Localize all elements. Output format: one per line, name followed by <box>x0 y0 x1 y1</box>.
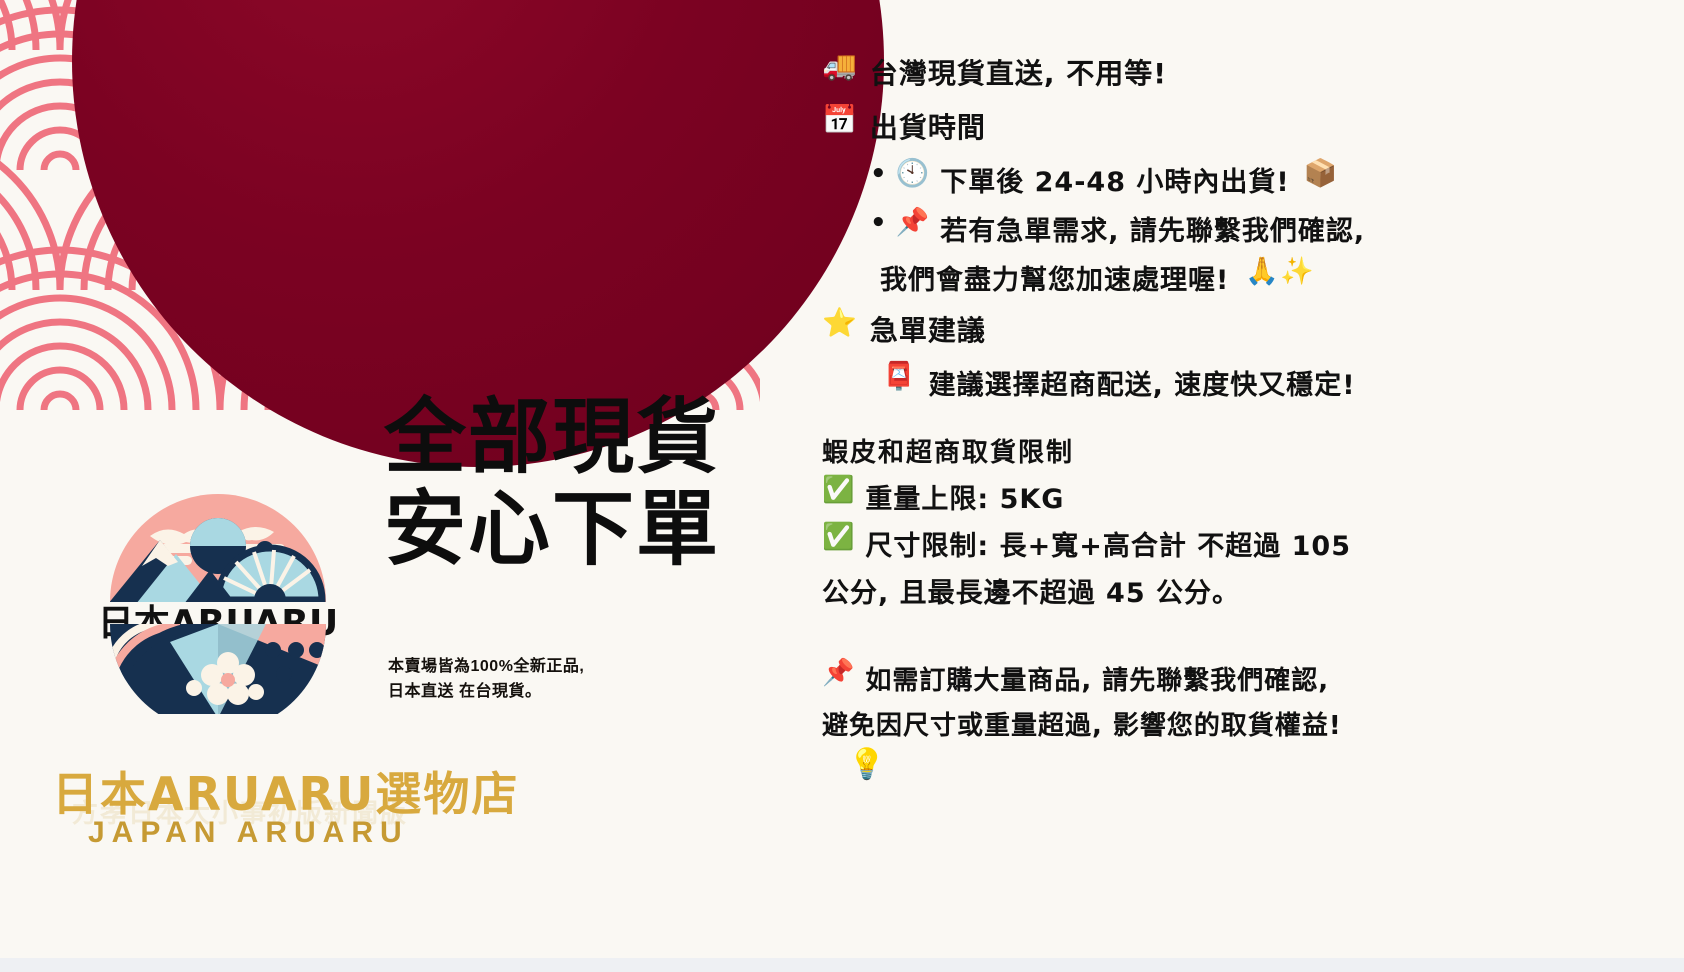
headline-line-1: 全部現貨 <box>384 392 784 484</box>
left-column: 日本ARUARU <box>0 0 830 958</box>
urgent-order-suggestion-text: 建議選擇超商配送, 速度快又穩定! <box>929 363 1356 402</box>
list-item: • 📌 若有急單需求, 請先聯繫我們確認, <box>822 209 1662 248</box>
shipping-headline-text: 台灣現貨直送, 不用等! <box>870 52 1167 92</box>
limit-size-continuation: 公分, 且最長邊不超過 45 公分。 <box>822 571 1662 610</box>
check-mark-button-icon: ✅ <box>822 524 855 550</box>
japan-aruaru-logo: 日本ARUARU <box>98 492 338 714</box>
pickup-limits-title: 蝦皮和超商取貨限制 <box>822 432 1662 469</box>
calendar-icon: 📅 <box>822 106 858 134</box>
urgent-order-suggestion: 📮 建議選擇超商配送, 速度快又穩定! <box>822 363 1662 402</box>
bulk-order-note-text-2: 避免因尺寸或重量超過, 影響您的取貨權益! <box>822 705 1342 742</box>
spacer <box>822 616 1662 660</box>
check-mark-button-icon: ✅ <box>822 477 855 503</box>
shipping-time-title: 📅 出貨時間 <box>822 106 1662 146</box>
disclaimer-line-2: 日本直送 在台現貨。 <box>388 680 584 705</box>
delivery-truck-icon: 🚚 <box>822 52 858 80</box>
limit-weight: ✅ 重量上限: 5KG <box>822 477 1662 516</box>
limit-weight-text: 重量上限: 5KG <box>865 477 1064 516</box>
bullet-text-rush-order: 若有急單需求, 請先聯繫我們確認, <box>940 209 1365 248</box>
bulk-order-note-line-1: 📌 如需訂購大量商品, 請先聯繫我們確認, <box>822 660 1662 697</box>
pickup-limits-title-text: 蝦皮和超商取貨限制 <box>822 432 1074 469</box>
authenticity-disclaimer: 本賣場皆為100%全新正品, 日本直送 在台現貨。 <box>388 655 584 705</box>
postbox-icon: 📮 <box>882 363 917 390</box>
list-item: • 🕙 下單後 24-48 小時內出貨! 📦 <box>822 160 1662 199</box>
pushpin-icon: 📌 <box>822 660 855 686</box>
limit-size-text: 尺寸限制: 長+寬+高合計 不超過 105 <box>865 524 1351 563</box>
urgent-order-title-text: 急單建議 <box>870 309 986 349</box>
limit-size-continuation-text: 公分, 且最長邊不超過 45 公分。 <box>822 571 1240 610</box>
pushpin-icon: 📌 <box>896 209 931 236</box>
page-title: 全部現貨 安心下單 <box>384 392 784 576</box>
headline-line-2: 安心下單 <box>384 484 784 576</box>
shipping-time-title-text: 出貨時間 <box>870 106 986 146</box>
right-column: 🚚 台灣現貨直送, 不用等! 📅 出貨時間 • 🕙 下單後 24-48 小時內出… <box>822 52 1662 780</box>
promo-banner: 日本ARUARU <box>0 0 1684 958</box>
package-box-icon: 📦 <box>1304 160 1339 187</box>
light-bulb-icon: 💡 <box>848 750 886 780</box>
limit-size: ✅ 尺寸限制: 長+寬+高合計 不超過 105 <box>822 524 1662 563</box>
bullet-dot-icon: • <box>870 160 888 190</box>
bulk-order-note-text-1: 如需訂購大量商品, 請先聯繫我們確認, <box>865 660 1329 697</box>
folded-hands-icon: 🙏 <box>1245 258 1280 285</box>
bulk-order-note-line-2: 避免因尺寸或重量超過, 影響您的取貨權益! <box>822 705 1662 742</box>
bullet-dot-icon: • <box>870 209 888 239</box>
disclaimer-line-1: 本賣場皆為100%全新正品, <box>388 655 584 680</box>
rush-order-continuation: 我們會盡力幫您加速處理喔! 🙏 ✨ <box>822 258 1662 297</box>
light-bulb-row: 💡 <box>822 750 1662 780</box>
clock-icon: 🕙 <box>896 160 931 187</box>
sparkles-icon: ✨ <box>1280 258 1315 285</box>
brand-name-en: JAPAN ARUARU <box>88 816 409 850</box>
rush-order-continuation-text: 我們會盡力幫您加速處理喔! <box>880 258 1229 297</box>
urgent-order-title: ⭐ 急單建議 <box>822 309 1662 349</box>
star-icon: ⭐ <box>822 309 858 337</box>
bullet-text-dispatch-window: 下單後 24-48 小時內出貨! <box>940 160 1289 199</box>
brand-name-zh: 日本ARUARU選物店 <box>52 758 519 824</box>
shipping-headline: 🚚 台灣現貨直送, 不用等! <box>822 52 1662 92</box>
